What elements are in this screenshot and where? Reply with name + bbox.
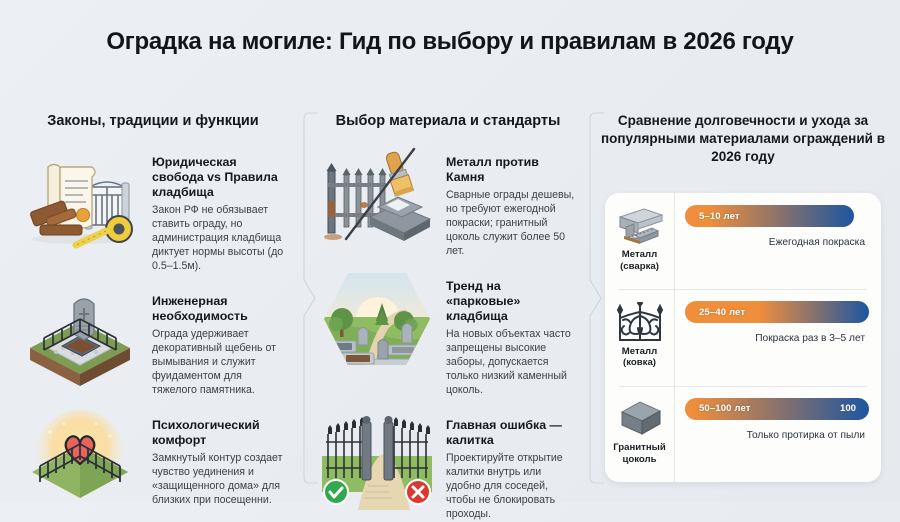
item-text: Инженерная необходимость Ограда удержива… <box>152 282 288 398</box>
open-gate-check-cross-icon <box>318 406 436 510</box>
chart-row-label: Металл (ковка) <box>605 289 675 385</box>
chart-row: Гранитный цоколь 50–100 лет 100 Только п… <box>605 386 881 482</box>
item-body: Сварные ограды дешевы, но требуют ежегод… <box>446 189 578 259</box>
chart-row-name: Металл (сварка) <box>605 249 674 272</box>
content-columns: Законы, традиции и функции <box>0 112 900 498</box>
column-middle-heading: Выбор материала и стандарты <box>318 112 578 131</box>
list-item: Тренд на «парковые» кладбища На новых об… <box>318 267 578 398</box>
duration-bar: 50–100 лет 100 <box>685 398 869 420</box>
item-text: Главная ошибка — калитка Проектируйте от… <box>446 406 578 522</box>
chart-row-values: 50–100 лет 100 Только протирка от пыли <box>675 386 881 482</box>
item-title: Инженерная необходимость <box>152 294 288 324</box>
column-laws-traditions: Законы, традиции и функции <box>0 112 300 498</box>
park-cemetery-landscape-icon <box>318 267 436 371</box>
bar-value-label: 25–40 лет <box>685 307 745 318</box>
column-comparison: Сравнение долговечности и ухода за попул… <box>588 112 900 498</box>
chart-row-values: 25–40 лет Покраска раз в 3–5 лет <box>675 289 881 385</box>
list-item: Юридическая свобода vs Правила кладбища … <box>18 143 288 274</box>
item-text: Металл против Камня Сварные ограды дешев… <box>446 143 578 259</box>
item-body: Замкнутый контур создает чувство уединен… <box>152 452 288 508</box>
item-text: Тренд на «парковые» кладбища На новых об… <box>446 267 578 398</box>
duration-bar: 5–10 лет <box>685 205 854 227</box>
durability-comparison-chart: Металл (сварка) 5–10 лет Ежегодная покра… <box>605 193 881 482</box>
chart-row-label: Металл (сварка) <box>605 193 675 289</box>
column-right-heading: Сравнение долговечности и ухода за попул… <box>596 112 890 165</box>
bar-end-label: 100 <box>840 403 856 414</box>
gavel-scroll-gate-tape-icon <box>18 143 142 249</box>
list-item: Инженерная необходимость Ограда удержива… <box>18 282 288 398</box>
item-title: Металл против Камня <box>446 155 578 185</box>
item-body: Ограда удерживает декоративный щебень от… <box>152 328 288 398</box>
item-title: Юридическая свобода vs Правила кладбища <box>152 155 288 200</box>
chart-row-label: Гранитный цоколь <box>605 386 675 482</box>
item-title: Психологический комфорт <box>152 418 288 448</box>
chart-row: Металл (ковка) 25–40 лет Покраска раз в … <box>605 289 881 385</box>
item-title: Главная ошибка — калитка <box>446 418 578 448</box>
list-item: Психологический комфорт Замкнутый контур… <box>18 406 288 512</box>
chart-row-care: Ежегодная покраска <box>685 236 869 249</box>
list-item: Главная ошибка — калитка Проектируйте от… <box>318 406 578 522</box>
item-text: Юридическая свобода vs Правила кладбища … <box>152 143 288 274</box>
chart-row-name: Гранитный цоколь <box>605 442 674 465</box>
wrought-iron-fence-icon <box>614 302 666 342</box>
chart-row-values: 5–10 лет Ежегодная покраска <box>675 193 881 289</box>
granite-block-icon <box>614 398 666 438</box>
chart-row-care: Покраска раз в 3–5 лет <box>685 332 869 345</box>
chart-row: Металл (сварка) 5–10 лет Ежегодная покра… <box>605 193 881 289</box>
bar-value-label: 5–10 лет <box>685 211 740 222</box>
bar-value-label: 50–100 лет <box>685 403 751 414</box>
list-item: Металл против Камня Сварные ограды дешев… <box>318 143 578 259</box>
chart-row-name: Металл (ковка) <box>605 346 674 369</box>
heart-inside-fence-icon <box>18 406 142 512</box>
steel-i-beam-icon <box>614 205 666 245</box>
item-body: Проектируйте открытие калитки внутрь или… <box>446 452 578 522</box>
item-text: Психологический комфорт Замкнутый контур… <box>152 406 288 508</box>
duration-bar: 25–40 лет <box>685 301 869 323</box>
page-title: Оградка на могиле: Гид по выбору и прави… <box>0 0 900 57</box>
rusty-fence-vs-granite-brush-icon <box>318 143 436 247</box>
item-title: Тренд на «парковые» кладбища <box>446 279 578 324</box>
grave-with-fence-foundation-icon <box>18 282 142 388</box>
chart-row-care: Только протирка от пыли <box>685 429 869 442</box>
item-body: Закон РФ не обязывает ставить ограду, но… <box>152 204 288 274</box>
column-left-heading: Законы, традиции и функции <box>18 112 288 131</box>
column-materials-standards: Выбор материала и стандарты <box>300 112 588 498</box>
item-body: На новых объектах часто запрещены высоки… <box>446 328 578 398</box>
